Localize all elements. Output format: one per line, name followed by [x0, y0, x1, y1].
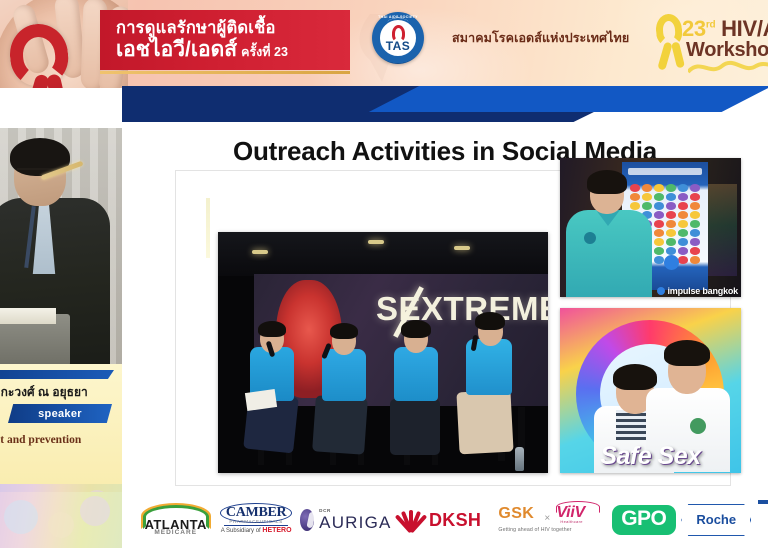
tas-association-logo: THAI AIDS SOCIETY TAS — [372, 12, 424, 64]
tas-logo-text: TAS — [386, 40, 411, 52]
hiv-workshop-logo: 23rd HIV/A Workshop — [652, 8, 768, 76]
auriga-mark-icon — [300, 509, 315, 531]
talk-title: ...agement and prevention ...scents — [0, 430, 122, 470]
panelist-shirt — [394, 347, 438, 401]
speaker-video-feed[interactable] — [0, 128, 122, 364]
sponsor-logo-dksh[interactable]: DKSH — [397, 505, 493, 535]
sponsor-logo-atlanta[interactable]: ATLANTA MEDICARE — [139, 503, 213, 537]
thai-title-line-1: การดูแลรักษาผู้ติดเชื้อ — [116, 19, 340, 38]
panelist-hair — [475, 312, 505, 330]
dksh-name: DKSH — [429, 510, 481, 531]
sponsor-logo-gsk-viiv[interactable]: GSK × ViiV Healthcare Getting ahead of H… — [498, 503, 606, 537]
ceiling-light — [368, 240, 384, 244]
viiv-subtitle: Healthcare — [560, 519, 582, 524]
gsk-name: GSK — [498, 505, 534, 523]
striped-undershirt — [616, 410, 650, 440]
ceiling-light — [252, 250, 268, 254]
yellow-accent-tick — [206, 198, 210, 258]
impulse-logo-icon — [657, 287, 665, 295]
banner-title-bar — [628, 168, 702, 175]
sponsor-logo-gpo[interactable]: GPO — [612, 503, 676, 537]
workshop-topic: HIV/A — [721, 16, 768, 41]
ceiling-light — [454, 246, 470, 250]
thai-title-line-2: เอชไอวี/เอดส์ครั้งที่ 23 — [116, 38, 340, 61]
panelist-legs — [390, 399, 440, 455]
sponsor-logo-camber[interactable]: CAMBER PHARMACEUTICALS A Subsidiary of H… — [218, 502, 294, 538]
name-accent-bar — [0, 370, 114, 379]
speaker-role-label: speaker — [38, 408, 82, 420]
workshop-ordinal: rd — [706, 20, 715, 31]
sponsor-logo-auriga[interactable]: DCR AURIGA — [300, 505, 392, 535]
panelist-legs — [312, 395, 368, 454]
water-bottle — [515, 447, 524, 471]
person-hair — [664, 340, 710, 366]
panelist — [312, 317, 380, 467]
talk-title-line-1: ...agement and prevention — [0, 434, 81, 446]
yellow-ribbon-tail — [657, 42, 672, 71]
camber-subtitle: PHARMACEUTICALS — [218, 519, 294, 524]
safe-sex-caption: Safe Sex — [560, 442, 741, 471]
impulse-bangkok-watermark: impulse bangkok — [657, 286, 738, 296]
navy-chevron-band — [122, 86, 768, 122]
panelist — [384, 317, 452, 467]
auriga-name: AURIGA — [319, 514, 391, 531]
tas-logo-inner: TAS — [378, 18, 418, 58]
panelist — [456, 311, 530, 467]
speaker-name-panel: ...ศ์ ปาลกะวงศ์ ณ อยุธยา speaker ...agem… — [0, 364, 122, 484]
camber-parent-prefix: A Subsidiary of — [221, 528, 261, 534]
panelist — [242, 317, 310, 467]
thai-title-main: เอชไอวี/เอดส์ — [116, 38, 237, 61]
panelist-hair — [401, 320, 431, 338]
panelist-shirt — [322, 349, 366, 401]
conference-header-banner: การดูแลรักษาผู้ติดเชื้อ เอชไอวี/เอดส์ครั… — [0, 0, 768, 88]
right-edge-marker — [758, 500, 768, 504]
camber-parent-line: A Subsidiary of HETERO — [218, 527, 294, 534]
dksh-mark-icon — [397, 507, 423, 533]
speaker-role-badge: speaker — [8, 404, 112, 423]
sponsor-bar-left-decoration — [0, 492, 122, 548]
camber-parent-brand: HETERO — [262, 527, 291, 534]
navy-band-light — [352, 86, 768, 112]
yellow-ribbon-tail — [671, 41, 685, 68]
bubble — [80, 496, 110, 526]
camber-rule — [224, 525, 288, 526]
roche-name: Roche — [681, 512, 751, 527]
polo-logo-icon — [584, 232, 596, 244]
sponsor-logo-bar: ATLANTA MEDICARE CAMBER PHARMACEUTICALS … — [122, 492, 768, 548]
bubble — [4, 500, 38, 534]
atlanta-subtitle: MEDICARE — [139, 529, 213, 536]
workshop-squiggle-icon — [688, 60, 768, 76]
bubble — [48, 512, 74, 538]
association-name: สมาคมโรคเอดส์แห่งประเทศไทย — [452, 28, 629, 48]
panelist-hair — [330, 323, 358, 339]
screenshot-root: การดูแลรักษาผู้ติดเชื้อ เอชไอวี/เอดส์ครั… — [0, 0, 768, 548]
gsk-tagline: Getting ahead of HIV together — [498, 527, 571, 533]
gpo-name: GPO — [612, 507, 676, 531]
title-plate-underline — [100, 71, 350, 74]
sponsor-logo-roche[interactable]: Roche — [681, 504, 751, 536]
panelist-hair — [258, 321, 286, 337]
school-emblem-icon — [690, 418, 706, 434]
talk-title-line-2: ...scents — [0, 450, 122, 470]
banner-badge-blue — [664, 255, 679, 270]
speaker-sidebar: ...ศ์ ปาลกะวงศ์ ณ อยุธยา speaker ...agem… — [0, 128, 122, 548]
thai-conference-title-plate: การดูแลรักษาผู้ติดเชื้อ เอชไอวี/เอดส์ครั… — [100, 10, 350, 70]
workshop-number: 23 — [682, 16, 706, 41]
panel-discussion-photo: SEXTREME — [218, 232, 548, 473]
presentation-slide: Outreach Activities in Social Media SEXT… — [122, 122, 768, 492]
panelist-legs — [456, 390, 513, 455]
thai-title-edition: ครั้งที่ 23 — [241, 45, 288, 59]
gsk-separator: × — [544, 513, 550, 524]
person-hair — [587, 170, 627, 194]
workshop-label: Workshop — [686, 39, 768, 62]
podium-papers — [0, 308, 56, 324]
venue-ceiling — [218, 232, 548, 276]
impulse-bangkok-photo: impulse bangkok — [560, 158, 741, 297]
impulse-watermark-text: impulse bangkok — [667, 286, 738, 296]
safe-sex-campaign-photo: Safe Sex — [560, 308, 741, 473]
speaker-name: ...ศ์ ปาลกะวงศ์ ณ อยุธยา — [0, 383, 122, 402]
